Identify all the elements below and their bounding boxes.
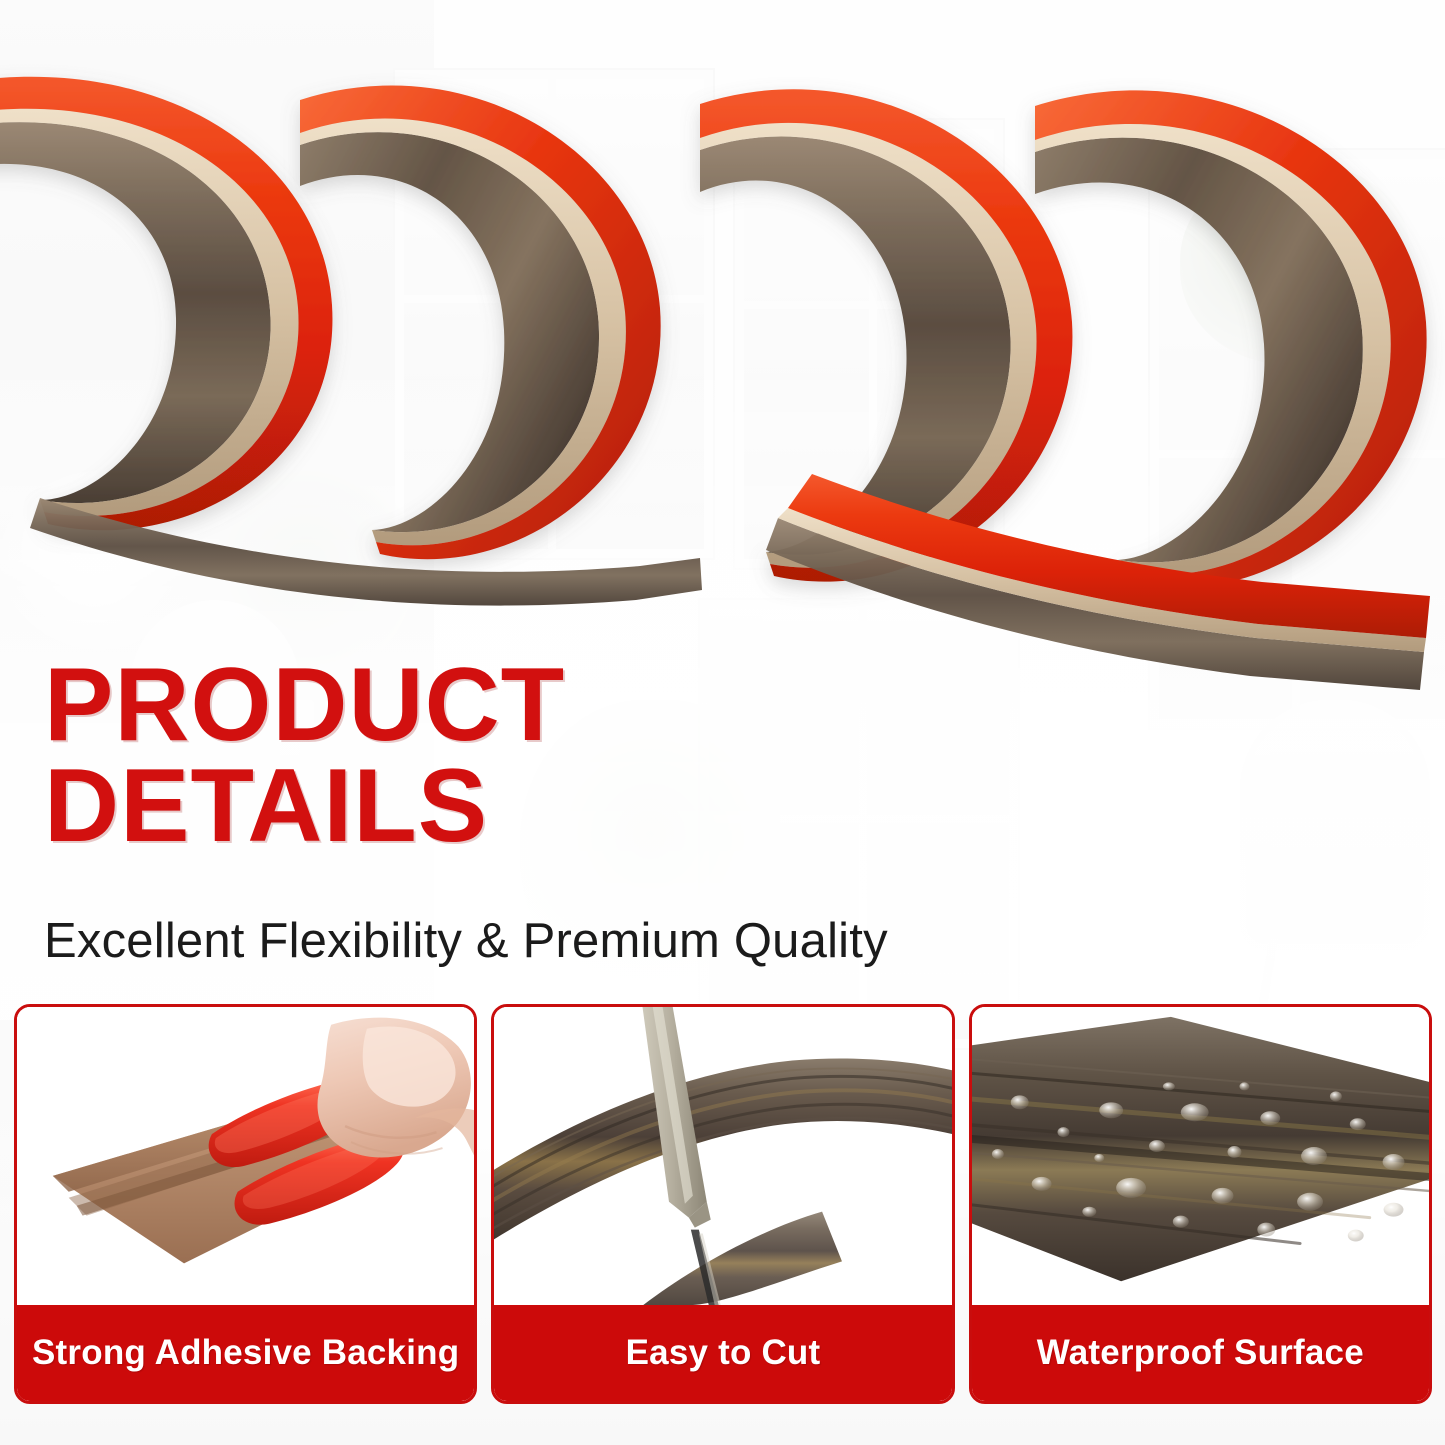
page-title-line-2: DETAILS bbox=[44, 756, 1194, 857]
page-title-line-1: PRODUCT bbox=[44, 655, 1194, 756]
panel-caption-waterproof: Waterproof Surface bbox=[972, 1305, 1429, 1401]
page-title: PRODUCT DETAILS bbox=[44, 655, 1194, 857]
panel-caption-adhesive: Strong Adhesive Backing bbox=[17, 1305, 474, 1401]
feature-panel-waterproof: Waterproof Surface bbox=[969, 1004, 1432, 1404]
feature-panel-cut: Easy to Cut bbox=[491, 1004, 954, 1404]
coil-1 bbox=[0, 77, 332, 530]
photo-hand-peeling-adhesive-liner bbox=[17, 1007, 474, 1305]
hero-coiled-trim-image bbox=[0, 0, 1445, 720]
coil-2 bbox=[300, 85, 661, 559]
photo-scissors-cutting-trim bbox=[494, 1007, 951, 1305]
feature-panel-group: Strong Adhesive Backing bbox=[14, 1004, 1432, 1404]
product-details-poster: PRODUCT DETAILS Excellent Flexibility & … bbox=[0, 0, 1445, 1445]
feature-panel-adhesive: Strong Adhesive Backing bbox=[14, 1004, 477, 1404]
panel-caption-cut: Easy to Cut bbox=[494, 1305, 951, 1401]
page-subtitle: Excellent Flexibility & Premium Quality bbox=[44, 913, 888, 969]
coil-4 bbox=[1035, 90, 1427, 589]
photo-water-droplets-on-wood-grain bbox=[972, 1007, 1429, 1305]
